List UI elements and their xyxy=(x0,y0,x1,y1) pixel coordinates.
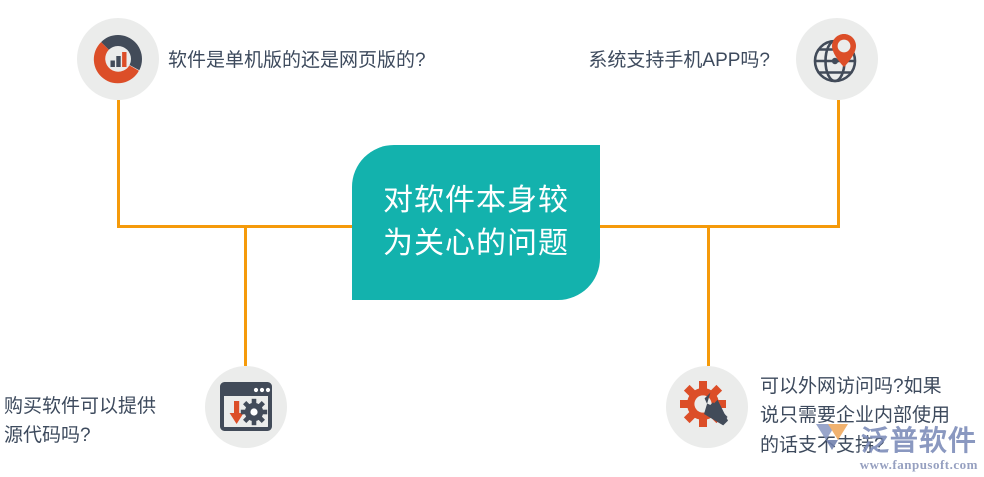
connector-right-horizontal xyxy=(594,225,840,228)
donut-chart-icon xyxy=(90,31,146,87)
connector-top-left-vertical xyxy=(117,100,120,228)
fanpu-logo-icon xyxy=(814,420,858,459)
center-topic-box[interactable]: 对软件本身较 为关心的问题 xyxy=(352,145,600,300)
browser-download-settings-icon xyxy=(220,382,272,432)
watermark-text: 泛普软件 www.fanpusoft.com xyxy=(860,427,978,473)
node-top-right-label: 系统支持手机APP吗? xyxy=(490,46,770,75)
node-bottom-left-badge[interactable] xyxy=(205,366,287,448)
node-top-right-badge[interactable] xyxy=(796,18,878,100)
watermark-url: www.fanpusoft.com xyxy=(860,457,978,473)
node-bottom-right-badge[interactable] xyxy=(666,366,748,448)
node-top-left-label: 软件是单机版的还是网页版的? xyxy=(168,46,488,75)
center-topic-line2: 为关心的问题 xyxy=(383,227,569,260)
watermark-brand: 泛普软件 xyxy=(861,427,977,455)
center-topic-line1: 对软件本身较 xyxy=(383,184,569,217)
watermark: 泛普软件 www.fanpusoft.com xyxy=(814,420,978,473)
node-top-left-badge[interactable] xyxy=(77,18,159,100)
connector-left-horizontal xyxy=(117,225,360,228)
globe-location-pin-icon xyxy=(808,30,866,88)
diagram-canvas: 对软件本身较 为关心的问题 软件是单机版的还是网页版的? xyxy=(0,0,984,477)
connector-top-right-vertical xyxy=(837,100,840,228)
center-topic-label: 对软件本身较 为关心的问题 xyxy=(376,180,576,265)
connector-bottom-right-vertical xyxy=(707,225,710,366)
gear-wrench-icon xyxy=(679,379,735,435)
connector-bottom-left-vertical xyxy=(244,225,247,366)
node-bottom-left-label: 购买软件可以提供 源代码吗? xyxy=(4,392,204,451)
